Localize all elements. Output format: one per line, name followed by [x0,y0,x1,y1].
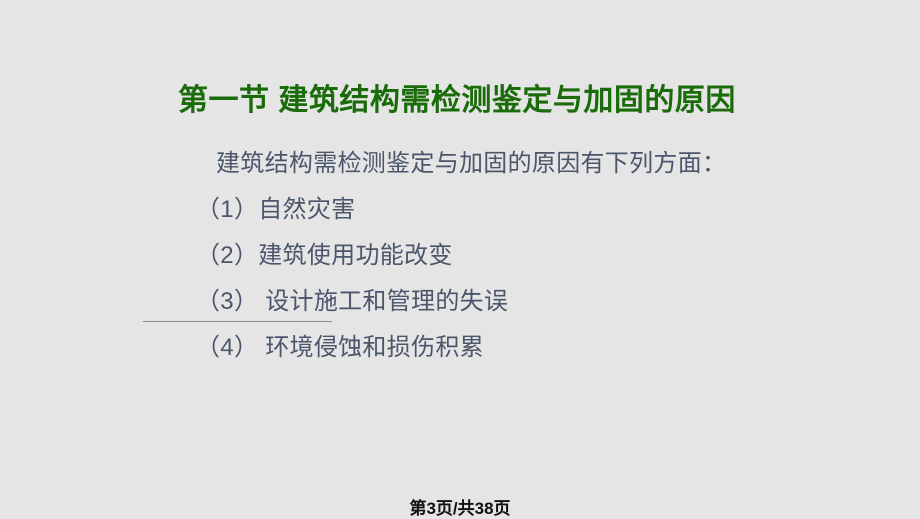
list-item: （2）建筑使用功能改变 [196,244,836,268]
list-item: （1）自然灾害 [196,198,836,222]
list-item: （3） 设计施工和管理的失误 [196,290,836,314]
slide-canvas: 第一节 建筑结构需检测鉴定与加固的原因 建筑结构需检测鉴定与加固的原因有下列方面… [0,0,920,518]
list-item: （4） 环境侵蚀和损伤积累 [196,336,836,360]
page-indicator: 第3页/共38页 [0,494,920,519]
page-title: 第一节 建筑结构需检测鉴定与加固的原因 [178,84,736,117]
horizontal-rule [143,321,332,322]
slide-body: 建筑结构需检测鉴定与加固的原因有下列方面： （1）自然灾害 （2）建筑使用功能改… [196,152,836,360]
body-lead-text: 建筑结构需检测鉴定与加固的原因有下列方面： [216,152,836,176]
